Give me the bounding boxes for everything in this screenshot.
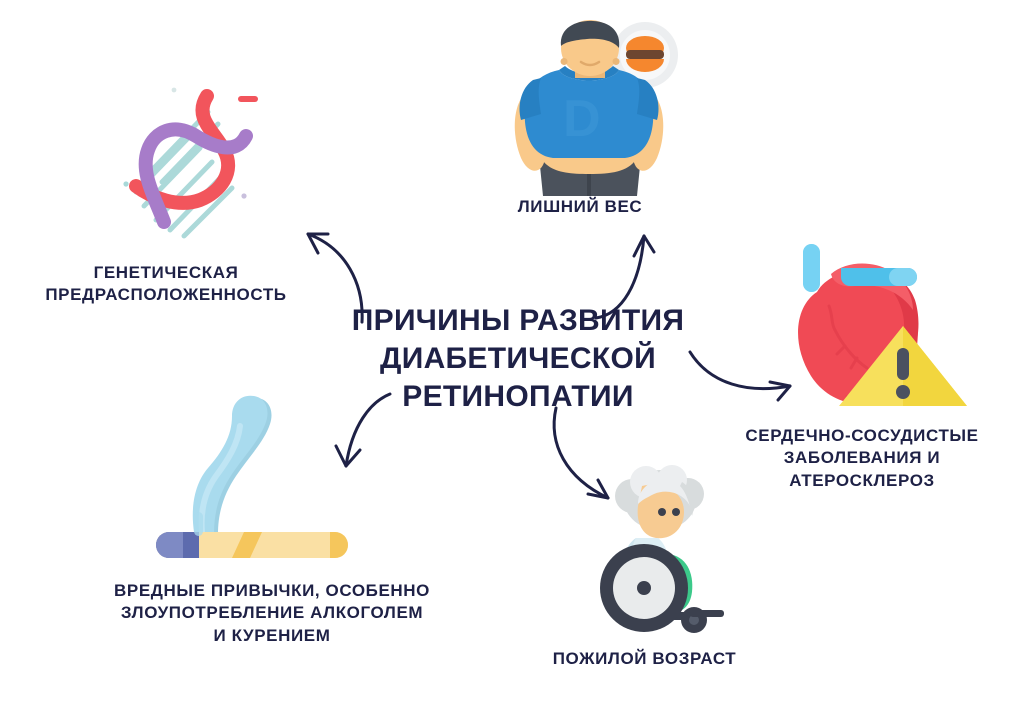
label-old-age: ПОЖИЛОЙ ВОЗРАСТ [512,648,777,670]
label-genetic-predisposition: ГЕНЕТИЧЕСКАЯ ПРЕДРАСПОЛОЖЕННОСТЬ [0,262,336,307]
arrow-to-bad-habits-icon [286,388,398,480]
heart-warning-icon [781,234,973,416]
arrow-to-genetic-icon [288,212,418,328]
label-bad-habits: ВРЕДНЫЕ ПРИВЫЧКИ, ОСОБЕННО ЗЛОУПОТРЕБЛЕН… [72,580,472,647]
arrow-to-old-age-icon [536,396,654,514]
label-overweight: ЛИШНИЙ ВЕС [470,196,690,218]
label-cardiovascular-disease: СЕРДЕЧНО-СОСУДИСТЫЕ ЗАБОЛЕВАНИЯ И АТЕРОС… [702,425,1022,492]
svg-text:D: D [563,90,601,148]
arrow-to-overweight-icon [588,222,694,326]
dna-helix-icon [96,74,276,254]
obese-person-icon: D [503,18,683,196]
arrow-to-cardiovascular-icon [686,336,804,412]
infographic-canvas: ПРИЧИНЫ РАЗВИТИЯ ДИАБЕТИЧЕСКОЙ РЕТИНОПАТ… [0,0,1024,723]
